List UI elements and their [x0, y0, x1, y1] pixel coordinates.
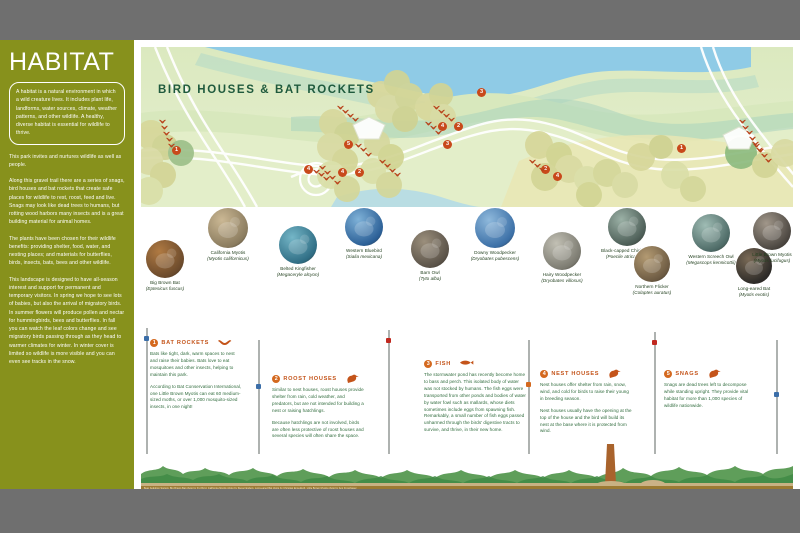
perched-bird-icon	[708, 369, 722, 379]
mounting-pole	[258, 340, 260, 454]
species-caption: Western Bluebird(Sialia mexicana)	[326, 248, 402, 260]
species-latin-name: (Megaceryle alcyon)	[277, 272, 319, 277]
species-photo	[608, 208, 646, 246]
mounting-pole	[146, 328, 148, 454]
species-silhouette	[345, 208, 383, 246]
species-silhouette	[411, 230, 449, 268]
species-silhouette	[608, 208, 646, 246]
habitat-sidebar: HABITAT A habitat is a natural environme…	[0, 40, 134, 489]
species-caption: Northern Flicker(Colaptes auratus)	[615, 284, 689, 296]
sign-content: BIRD HOUSES & BAT ROCKETS 145424233241 B…	[134, 40, 800, 489]
species-silhouette	[634, 246, 670, 282]
species-photo	[753, 212, 791, 250]
bird-house-marker	[526, 382, 531, 387]
flying-bird-icon	[166, 137, 173, 142]
info-number-badge: 2	[272, 375, 280, 383]
fish-icon	[460, 359, 474, 369]
species-photo	[279, 226, 317, 264]
bird-house-marker	[256, 384, 261, 389]
species-card: Downy Woodpecker(Dryobates pubescens)	[456, 208, 534, 262]
perched-bird-icon	[346, 374, 360, 384]
info-number-badge: 1	[150, 339, 158, 347]
species-silhouette	[279, 226, 317, 264]
species-caption: Hairy Woodpecker(Dryobates villosus)	[524, 272, 600, 284]
species-photo	[208, 208, 248, 248]
bird-house-marker	[652, 340, 657, 345]
sidebar-paragraph-1: This park invites and nurtures wildlife …	[9, 153, 125, 170]
sidebar-paragraph-2: Along this gravel trail there are a seri…	[9, 177, 125, 227]
species-caption: California Myotis(Myotis californicus)	[189, 250, 267, 262]
info-paragraph: Similar to nest houses, roost houses pro…	[272, 387, 364, 415]
map-marker-2[interactable]: 2	[355, 168, 364, 177]
mounting-pole	[654, 332, 656, 454]
map-marker-3[interactable]: 3	[443, 140, 452, 149]
info-column-header: 5SNAGS	[664, 369, 756, 379]
ground-svg	[141, 444, 793, 486]
species-silhouette	[475, 208, 515, 248]
species-latin-name: (Sialia mexicana)	[346, 254, 382, 259]
species-latin-name: (Tyto alba)	[419, 276, 441, 281]
map-marker-3[interactable]: 3	[477, 88, 486, 97]
info-column-title: BAT ROCKETS	[161, 340, 209, 346]
map-marker-4[interactable]: 4	[338, 168, 347, 177]
flying-bird-icon	[323, 176, 330, 181]
park-map-illustration: BIRD HOUSES & BAT ROCKETS 145424233241	[141, 47, 793, 207]
screenshot-root: HABITAT A habitat is a natural environme…	[0, 0, 800, 533]
ground-scene-illustration	[141, 444, 793, 486]
species-latin-name: (Colaptes auratus)	[633, 290, 672, 295]
flying-bird-icon	[539, 167, 546, 172]
info-column-snags: 5SNAGSSnags are dead trees left to decom…	[664, 369, 756, 415]
mounting-pole	[528, 340, 530, 454]
info-paragraph: According to Bat Conservation Internatio…	[150, 384, 242, 412]
species-silhouette	[543, 232, 581, 270]
map-marker-2[interactable]: 2	[454, 122, 463, 131]
info-column-nest-houses: 4NEST HOUSESNest houses offer shelter fr…	[540, 369, 632, 440]
flying-bat-icon	[218, 338, 232, 348]
top-band	[0, 0, 800, 40]
species-card: Belted Kingfisher(Megaceryle alcyon)	[260, 226, 336, 278]
sidebar-paragraph-4: This landscape is designed to have all-s…	[9, 276, 125, 367]
map-marker-1[interactable]: 1	[677, 144, 686, 153]
info-column-bat-rockets: 1BAT ROCKETSBats like tight, dark, warm …	[150, 338, 242, 416]
info-paragraph: Snags are dead trees left to decompose w…	[664, 382, 756, 410]
info-column-title: NEST HOUSES	[551, 371, 599, 377]
species-silhouette	[146, 240, 184, 278]
species-photo	[475, 208, 515, 248]
species-photo	[411, 230, 449, 268]
info-number-badge: 3	[424, 360, 432, 368]
sidebar-paragraph-3: The plants have been chosen for their wi…	[9, 235, 125, 268]
mounting-pole	[776, 340, 778, 454]
info-paragraph: Nest houses offer shelter from rain, sno…	[540, 382, 632, 403]
flying-bird-icon	[394, 172, 401, 177]
species-latin-name: (Myotis evotis)	[739, 292, 769, 297]
info-number-badge: 5	[664, 370, 672, 378]
map-marker-4[interactable]: 4	[553, 172, 562, 181]
species-latin-name: (Dryobates pubescens)	[471, 256, 520, 261]
info-column-header: 1BAT ROCKETS	[150, 338, 242, 348]
species-caption: Big Brown Bat(Eptesicus fuscus)	[127, 280, 203, 292]
flying-bird-icon	[739, 119, 746, 124]
sign-panel: HABITAT A habitat is a natural environme…	[0, 40, 800, 489]
info-column-title: ROOST HOUSES	[283, 376, 336, 382]
info-column-roost-houses: 2ROOST HOUSESSimilar to nest houses, roo…	[272, 374, 364, 445]
info-paragraph: Bats like tight, dark, warm spaces to ne…	[150, 351, 242, 379]
info-columns: 1BAT ROCKETSBats like tight, dark, warm …	[134, 322, 800, 457]
species-card: Western Bluebird(Sialia mexicana)	[326, 208, 402, 260]
species-photo	[146, 240, 184, 278]
flying-bird-icon	[765, 158, 772, 163]
species-card: California Myotis(Myotis californicus)	[189, 208, 267, 262]
flying-bird-icon	[435, 130, 442, 135]
map-svg	[141, 47, 793, 207]
species-caption: Downy Woodpecker(Dryobates pubescens)	[456, 250, 534, 262]
info-paragraph: The stormwater pond has recently become …	[424, 372, 528, 434]
flying-bird-icon	[161, 125, 168, 130]
map-marker-4[interactable]: 4	[304, 165, 313, 174]
species-latin-name: (Myotis lucifugus)	[754, 258, 791, 263]
flying-bird-icon	[163, 131, 170, 136]
species-caption: Belted Kingfisher(Megaceryle alcyon)	[260, 266, 336, 278]
flying-bird-icon	[448, 117, 455, 122]
habitat-definition-box: A habitat is a natural environment in wh…	[9, 82, 125, 145]
map-title: BIRD HOUSES & BAT ROCKETS	[158, 84, 375, 96]
page-title: HABITAT	[9, 50, 125, 75]
flying-bird-icon	[365, 152, 372, 157]
info-column-header: 3FISH	[424, 359, 528, 369]
species-caption: Little Brown Myotis(Myotis lucifugus)	[734, 252, 800, 264]
flying-bird-icon	[334, 180, 341, 185]
bird-house-marker	[144, 336, 149, 341]
info-column-header: 2ROOST HOUSES	[272, 374, 364, 384]
bottom-band	[0, 489, 800, 533]
info-paragraph: Because hatchlings are not involved, bir…	[272, 420, 364, 441]
species-latin-name: (Myotis californicus)	[207, 256, 249, 261]
info-column-fish: 3FISHThe stormwater pond has recently be…	[424, 359, 528, 439]
species-gallery: Big Brown Bat(Eptesicus fuscus)Californi…	[134, 208, 800, 318]
species-silhouette	[692, 214, 730, 252]
species-caption: Long-eared Bat(Myotis evotis)	[717, 286, 791, 298]
photo-credits: Bear Audubon Society, Big Brown Bat phot…	[141, 486, 793, 489]
flying-bird-icon	[159, 119, 166, 124]
info-column-header: 4NEST HOUSES	[540, 369, 632, 379]
species-photo	[345, 208, 383, 246]
species-card: Little Brown Myotis(Myotis lucifugus)	[734, 212, 800, 264]
species-photo	[692, 214, 730, 252]
species-photo	[543, 232, 581, 270]
species-caption: Barn Owl(Tyto alba)	[392, 270, 468, 282]
species-photo	[634, 246, 670, 282]
species-latin-name: (Dryobates villosus)	[541, 278, 582, 283]
species-latin-name: (Eptesicus fuscus)	[146, 286, 184, 291]
species-silhouette	[208, 208, 248, 248]
info-number-badge: 4	[540, 370, 548, 378]
mounting-pole	[388, 330, 390, 454]
species-silhouette	[753, 212, 791, 250]
flying-bird-icon	[746, 130, 753, 135]
map-marker-5[interactable]: 5	[344, 140, 353, 149]
info-column-title: SNAGS	[675, 371, 698, 377]
flying-bird-icon	[168, 143, 175, 148]
info-column-title: FISH	[435, 361, 451, 367]
bird-house-marker	[774, 392, 779, 397]
info-paragraph: Nest houses usually have the opening at …	[540, 408, 632, 436]
flying-bird-icon	[749, 136, 756, 141]
bird-house-marker	[386, 338, 391, 343]
perched-bird-icon	[608, 369, 622, 379]
flying-bird-icon	[352, 117, 359, 122]
flying-bird-icon	[742, 125, 749, 130]
